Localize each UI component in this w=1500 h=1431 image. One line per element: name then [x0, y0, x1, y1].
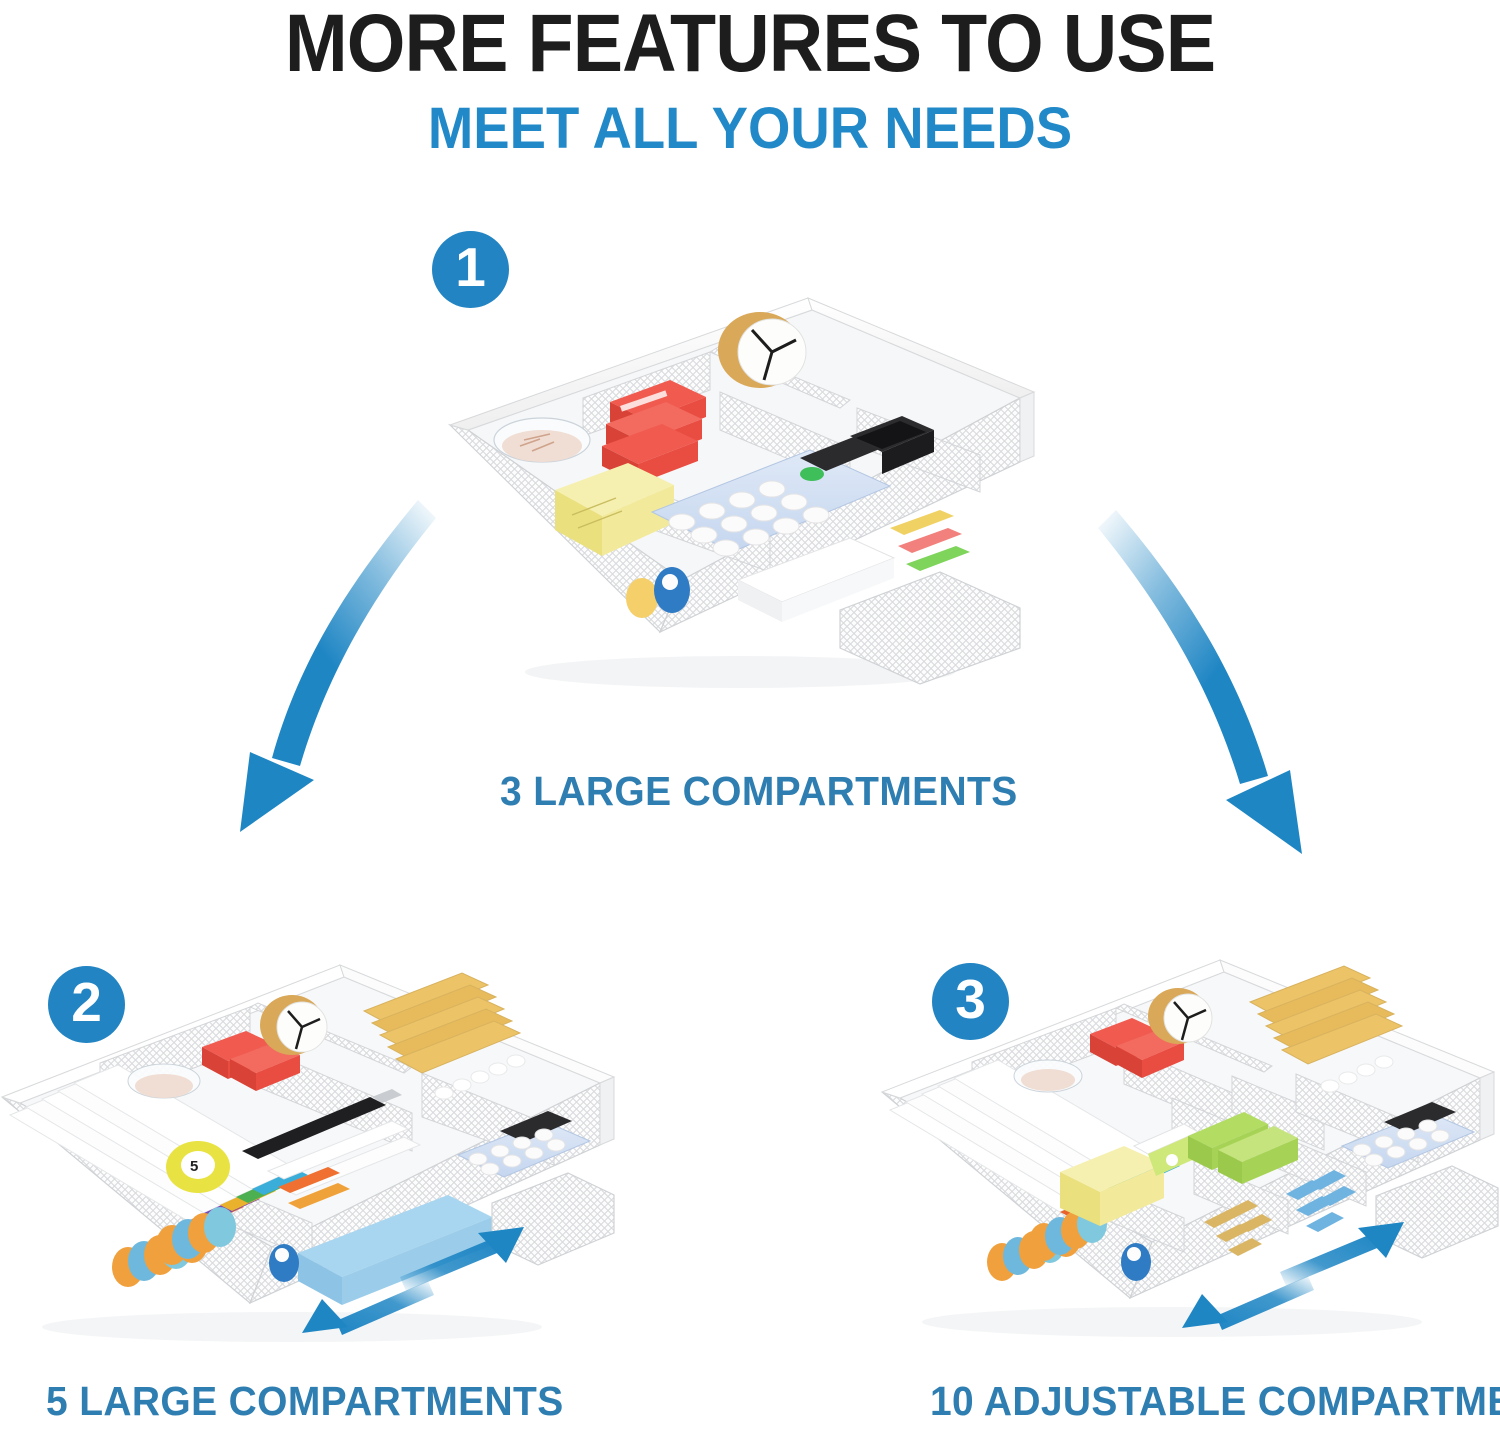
product-image-step-1	[420, 280, 1060, 700]
item-sticky-flags-1	[890, 510, 970, 571]
caption-step-2: 5 LARGE COMPARTMENTS	[46, 1378, 564, 1425]
item-tape-measure-2: 5	[166, 1141, 230, 1193]
expand-arrows-step-2-icon	[280, 1215, 550, 1340]
page-title: MORE FEATURES TO USE	[60, 2, 1440, 86]
item-paperclip-dish-2	[128, 1064, 200, 1098]
item-paperclip-dish-1	[494, 418, 590, 462]
item-correction-tape-3	[1121, 1243, 1151, 1281]
flow-arrow-right-icon	[1050, 470, 1350, 870]
item-paperclip-dish-3	[1014, 1060, 1082, 1092]
caption-step-1: 3 LARGE COMPARTMENTS	[500, 768, 1018, 815]
flow-arrow-left-icon	[210, 480, 510, 850]
svg-text:5: 5	[190, 1158, 198, 1175]
caption-step-3: 10 ADJUSTABLE COMPARTMENTS	[930, 1378, 1500, 1425]
expand-arrows-step-3-icon	[1160, 1210, 1430, 1335]
page-subtitle: MEET ALL YOUR NEEDS	[45, 98, 1455, 160]
